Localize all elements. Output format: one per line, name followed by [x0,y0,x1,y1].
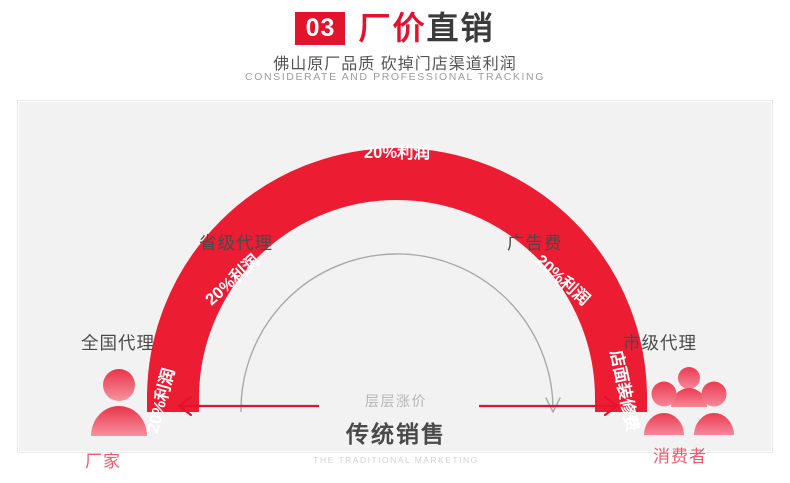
diagram-panel: 20%利润 20%利润 20%利润 20%利润 店面装修费 [18,101,772,452]
tier-label-provincial: 省级代理 [199,230,273,255]
inner-gray-arc [241,254,553,412]
center-caption-small: 层层涨价 [19,391,773,411]
consumer-label: 消费者 [653,442,707,467]
red-profit-arc [173,174,621,398]
page-title: 厂价直销 [358,10,494,46]
promo-banner: 03 厂价直销 佛山原厂品质 砍掉门店渠道利润 CONSIDERATE AND … [0,0,790,483]
title-row: 03 厂价直销 [0,10,790,46]
tier-label-city: 市级代理 [623,330,697,355]
manufacturer-label: 厂家 [85,447,121,472]
diagram-stage: 20%利润 20%利润 20%利润 20%利润 店面装修费 [19,102,773,453]
banner-header: 03 厂价直销 佛山原厂品质 砍掉门店渠道利润 CONSIDERATE AND … [0,0,790,98]
subtitle-english: CONSIDERATE AND PROFESSIONAL TRACKING [0,71,790,83]
tier-label-advertising: 广告费 [507,230,563,255]
tier-label-national: 全国代理 [81,330,155,355]
page-title-dark: 直销 [427,10,495,46]
page-title-red: 厂价 [358,10,426,46]
section-number-badge: 03 [295,12,345,45]
arc-label-seg-top: 20%利润 [364,142,430,162]
